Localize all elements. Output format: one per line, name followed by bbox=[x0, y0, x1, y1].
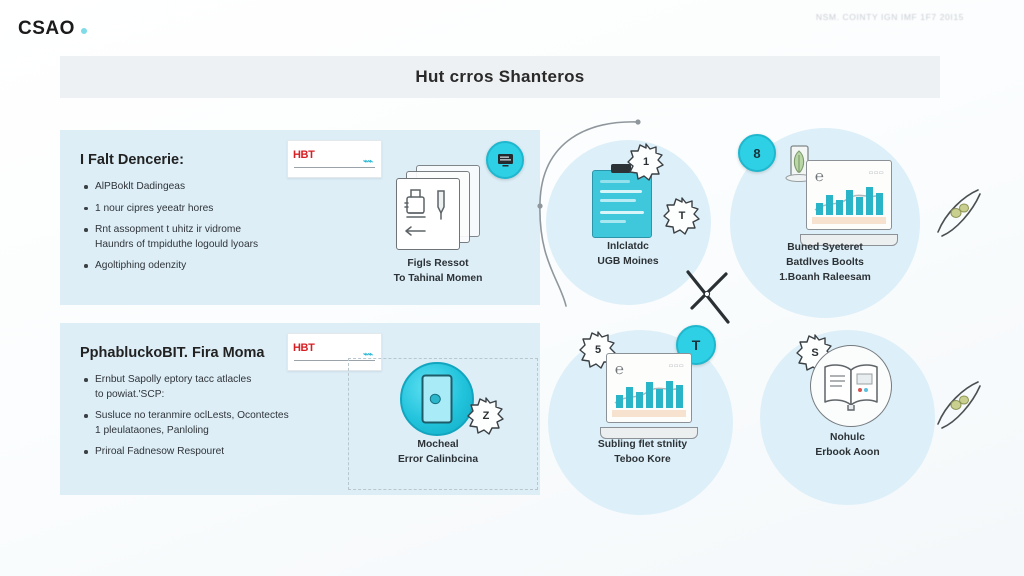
list-item: Priroal Fadnesow Respouret bbox=[82, 445, 332, 460]
caption-line-1: Nohulc bbox=[780, 430, 915, 445]
bar-chart-glyph bbox=[813, 185, 885, 215]
node-phone-caption: Mocheal Error Calinbcina bbox=[373, 437, 503, 467]
caption-line-2: Teboo Kore bbox=[570, 452, 715, 467]
slide-canvas: CSAO NSM. COINTY IGN IMF 1F7 20I15 Hut c… bbox=[0, 0, 1024, 576]
hand-gesture-icon bbox=[426, 387, 448, 409]
caption-line-2: Error Calinbcina bbox=[373, 452, 503, 467]
badge-burst-clipboard-2: T bbox=[662, 196, 702, 236]
open-book-circle bbox=[810, 345, 892, 427]
node-clipboard-caption: Inlclatdc UGB Moines bbox=[558, 239, 698, 269]
monitor-badge-icon[interactable] bbox=[486, 141, 524, 179]
hbt-document-card-top: HBT ⌁⌁ bbox=[287, 140, 382, 178]
caption-line-2: Batdlves Boolts bbox=[755, 255, 895, 270]
caption-line-3: 1.Boanh Raleesam bbox=[755, 270, 895, 285]
panel-bottom-heading: PphabluckoBIT. Fira Moma bbox=[80, 345, 265, 361]
open-book-icon bbox=[818, 358, 884, 414]
caption-line-1: Mocheal bbox=[373, 437, 503, 452]
hbt-card-logo: HBT bbox=[293, 343, 314, 354]
bullet-text: Susluce no teranmire oclLests, Ocontecte… bbox=[95, 410, 289, 421]
mobile-phone-circle[interactable] bbox=[400, 362, 474, 436]
badge-label: 1 bbox=[626, 142, 666, 182]
bar-chart-glyph bbox=[613, 378, 685, 408]
corner-note: NSM. COINTY IGN IMF 1F7 20I15 bbox=[816, 12, 964, 22]
bullet-text-cont: Haundrs of tmpiduthe logould lyoars bbox=[95, 238, 332, 253]
list-item: Rnt assopment t uhitz ir vidrome Haundrs… bbox=[82, 223, 332, 252]
caption-line-2: UGB Moines bbox=[558, 254, 698, 269]
mobile-phone-icon bbox=[422, 375, 453, 424]
caption-line-1: Inlclatdc bbox=[558, 239, 698, 254]
panel-top-bullet-list: AlPBoklt Dadingeas 1 nour cipres yeeatr … bbox=[82, 180, 332, 281]
badge-label: Z bbox=[466, 396, 506, 436]
list-item: Agoltiphing odenzity bbox=[82, 259, 332, 274]
brand-logo-dot-icon bbox=[81, 28, 87, 34]
hbt-card-rule bbox=[294, 167, 375, 169]
bullet-text: Priroal Fadnesow Respouret bbox=[95, 446, 224, 457]
list-item: 1 nour cipres yeeatr hores bbox=[82, 202, 332, 217]
caption-line-2: To Tahinal Momen bbox=[368, 271, 508, 286]
bullet-text: Rnt assopment t uhitz ir vidrome bbox=[95, 224, 241, 235]
leaf-doodle-icon-top bbox=[932, 186, 988, 238]
laptop-chart-icon-top: ℮ ▭▭▭ bbox=[800, 160, 896, 246]
brand-logo: CSAO bbox=[18, 18, 87, 40]
screen-tiny-text: ▭▭▭ bbox=[669, 363, 684, 369]
caption-line-1: Buned Syeteret bbox=[755, 240, 895, 255]
signature-scribble-icon: ℮ bbox=[815, 168, 824, 185]
header-banner: Hut crros Shanteros bbox=[60, 56, 940, 98]
bullet-text: AlPBoklt Dadingeas bbox=[95, 181, 185, 192]
machine-sketch-icon bbox=[397, 179, 457, 247]
badge-burst-phone: Z bbox=[466, 396, 506, 436]
leaf-doodle-icon-bottom bbox=[932, 378, 988, 430]
bullet-text: Ernbut Sapolly eptory tacc atlacles bbox=[95, 374, 251, 385]
node-laptop-bottom-caption: Subling flet stnlity Teboo Kore bbox=[570, 437, 715, 467]
node-book-caption: Nohulc Erbook Aoon bbox=[780, 430, 915, 460]
bullet-text-cont: to powiat.'SCP: bbox=[95, 388, 332, 403]
node-laptop-top-caption: Buned Syeteret Batdlves Boolts 1.Boanh R… bbox=[755, 240, 895, 285]
bullet-text: 1 nour cipres yeeatr hores bbox=[95, 203, 213, 214]
document-stack-icon bbox=[396, 165, 478, 250]
monitor-icon bbox=[497, 153, 514, 167]
hbt-card-chart-icon: ⌁⌁ bbox=[363, 156, 372, 167]
signature-scribble-icon: ℮ bbox=[615, 361, 624, 378]
badge-label: 8 bbox=[753, 146, 760, 161]
list-item: Ernbut Sapolly eptory tacc atlacles to p… bbox=[82, 373, 332, 402]
screen-tiny-text: ▭▭▭ bbox=[869, 170, 884, 176]
badge-label: T bbox=[692, 337, 701, 353]
hbt-card-logo: HBT bbox=[293, 150, 314, 161]
badge-burst-clipboard-1: 1 bbox=[626, 142, 666, 182]
page-title: Hut crros Shanteros bbox=[415, 67, 584, 87]
doc-stack-caption: Figls Ressot To Tahinal Momen bbox=[368, 256, 508, 286]
panel-bottom-bullet-list: Ernbut Sapolly eptory tacc atlacles to p… bbox=[82, 373, 332, 467]
list-item: AlPBoklt Dadingeas bbox=[82, 180, 332, 195]
laptop-chart-icon-bottom: ℮ ▭▭▭ bbox=[600, 353, 696, 439]
caption-line-1: Figls Ressot bbox=[368, 256, 508, 271]
caption-line-2: Erbook Aoon bbox=[780, 445, 915, 460]
panel-top-heading: I Falt Dencerie: bbox=[80, 152, 184, 168]
badge-label: T bbox=[662, 196, 702, 236]
bullet-text: Agoltiphing odenzity bbox=[95, 260, 186, 271]
caption-line-1: Subling flet stnlity bbox=[570, 437, 715, 452]
bullet-text-cont: 1 pleulataones, Panloling bbox=[95, 424, 332, 439]
badge-laptop-top[interactable]: 8 bbox=[738, 134, 776, 172]
list-item: Susluce no teranmire oclLests, Ocontecte… bbox=[82, 409, 332, 438]
brand-logo-text: CSAO bbox=[18, 18, 75, 40]
